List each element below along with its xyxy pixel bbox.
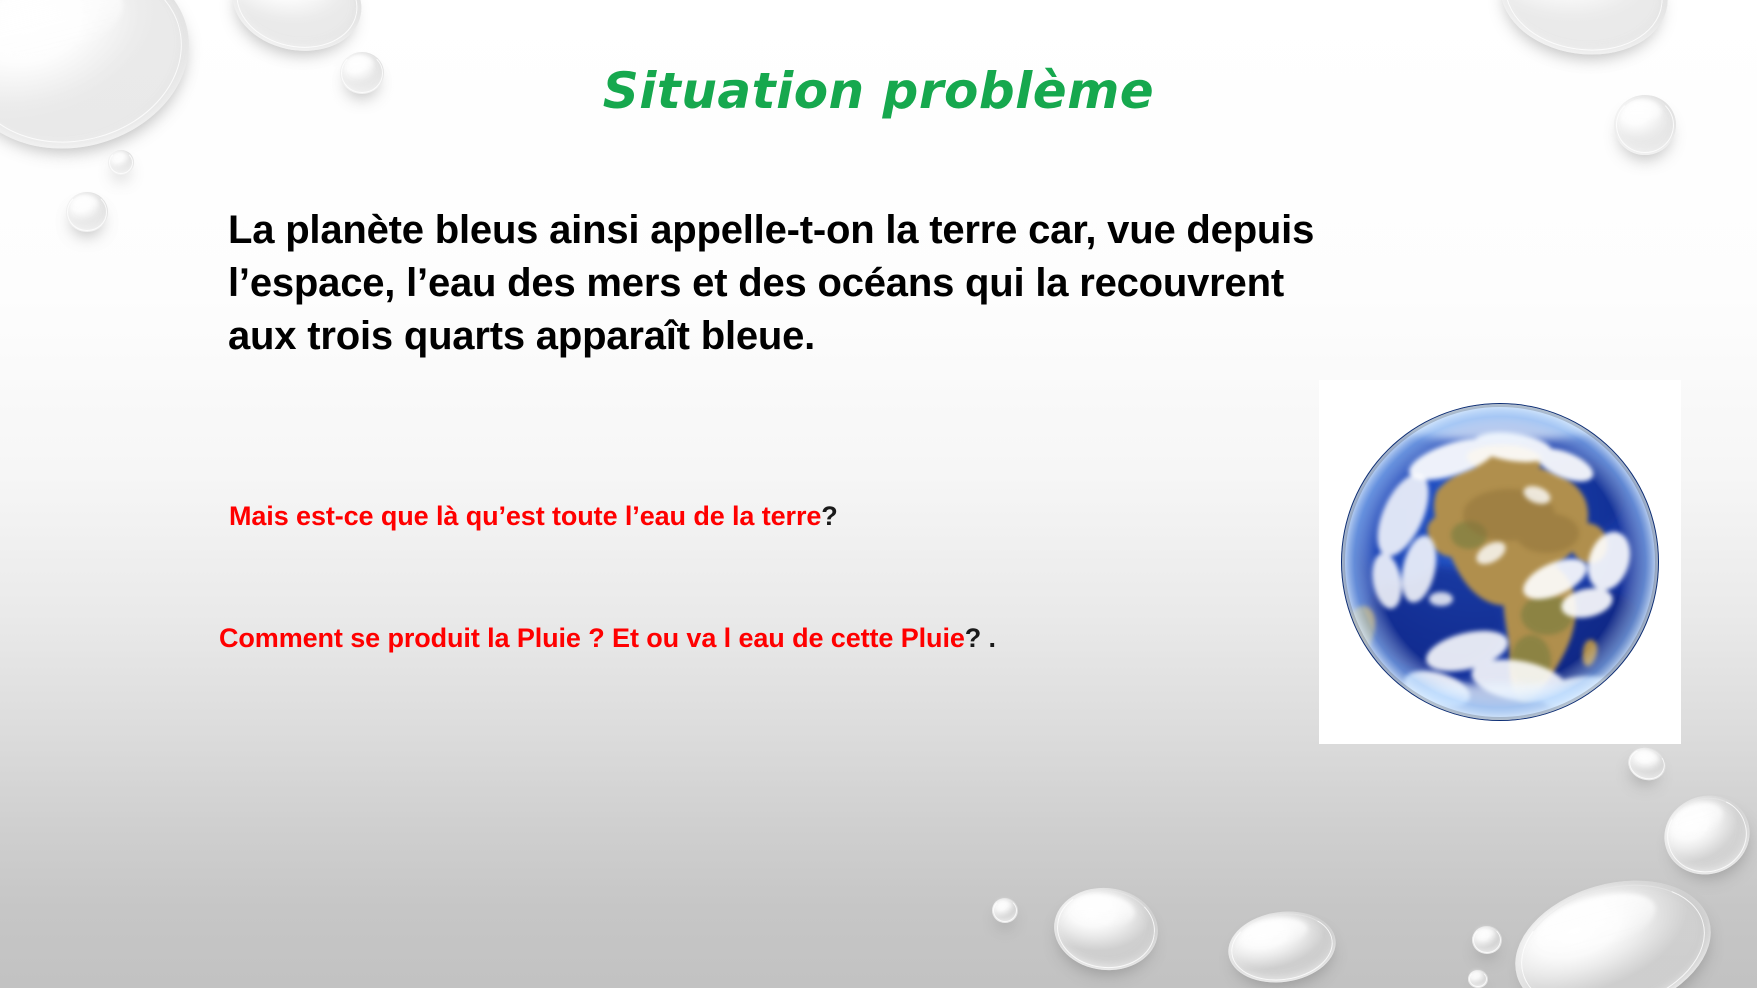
earth-globe-image <box>1341 403 1659 721</box>
droplet-highlight <box>1471 971 1483 978</box>
water-droplet-icon <box>1472 926 1502 954</box>
water-droplet-icon <box>1224 905 1341 988</box>
droplet-rim <box>1626 745 1669 784</box>
droplet-highlight <box>1069 891 1137 930</box>
droplet-highlight <box>72 195 98 211</box>
body-paragraph: La planète bleus ainsi appelle-t-on la t… <box>228 204 1318 363</box>
droplet-rim <box>1506 864 1720 988</box>
droplet-rim <box>1473 927 1501 953</box>
droplet-body <box>1050 883 1162 975</box>
slide-canvas: Situation problème La planète bleus ains… <box>0 0 1757 988</box>
droplet-body <box>1224 905 1341 988</box>
droplet-rim <box>67 193 107 231</box>
question-1-tail: ? <box>821 501 837 531</box>
droplet-highlight <box>996 900 1012 910</box>
water-droplet-icon <box>223 0 370 62</box>
water-droplet-icon <box>1499 859 1727 988</box>
droplet-rim <box>1469 971 1488 988</box>
droplet-body <box>1492 0 1675 65</box>
droplet-highlight <box>1634 747 1660 766</box>
droplet-body <box>66 192 108 232</box>
droplet-rim <box>1498 0 1670 61</box>
water-droplet-icon <box>1050 883 1162 975</box>
question-line-1: Mais est-ce que là qu’est toute l’eau de… <box>229 501 838 532</box>
question-line-2: Comment se produit la Pluie ? Et ou va l… <box>219 623 996 654</box>
droplet-rim <box>1227 907 1337 986</box>
earth-image-frame <box>1319 380 1681 744</box>
droplet-body <box>108 150 134 175</box>
droplet-body <box>1468 970 1488 988</box>
droplet-rim <box>993 899 1017 923</box>
droplet-highlight <box>252 0 339 7</box>
water-droplet-icon <box>1624 743 1669 784</box>
water-droplet-icon <box>992 898 1018 923</box>
question-1-red-text: Mais est-ce que là qu’est toute l’eau de… <box>229 501 821 531</box>
water-droplet-icon <box>1468 970 1488 988</box>
droplet-highlight <box>1476 928 1495 939</box>
droplet-highlight <box>1529 882 1662 965</box>
water-droplet-icon <box>66 192 108 232</box>
droplet-highlight <box>112 152 128 162</box>
droplet-body <box>992 898 1018 923</box>
droplet-rim <box>109 151 133 175</box>
droplet-rim <box>1053 886 1158 973</box>
droplet-highlight <box>0 0 132 71</box>
page-title: Situation problème <box>0 62 1757 120</box>
water-droplet-icon <box>1492 0 1675 65</box>
question-2-tail: ? . <box>965 623 996 653</box>
water-droplet-icon <box>1654 785 1757 886</box>
earth-globe-svg <box>1341 403 1659 721</box>
droplet-body <box>1472 926 1502 954</box>
question-2-red-text: Comment se produit la Pluie ? Et ou va l… <box>219 623 965 653</box>
droplet-body <box>223 0 370 62</box>
droplet-body <box>1624 743 1669 784</box>
droplet-rim <box>228 0 366 59</box>
droplet-body <box>1654 785 1757 886</box>
droplet-body <box>1499 859 1727 988</box>
droplet-highlight <box>1667 797 1727 843</box>
water-droplet-icon <box>108 150 134 175</box>
droplet-highlight <box>1239 914 1309 951</box>
droplet-rim <box>1657 788 1757 883</box>
